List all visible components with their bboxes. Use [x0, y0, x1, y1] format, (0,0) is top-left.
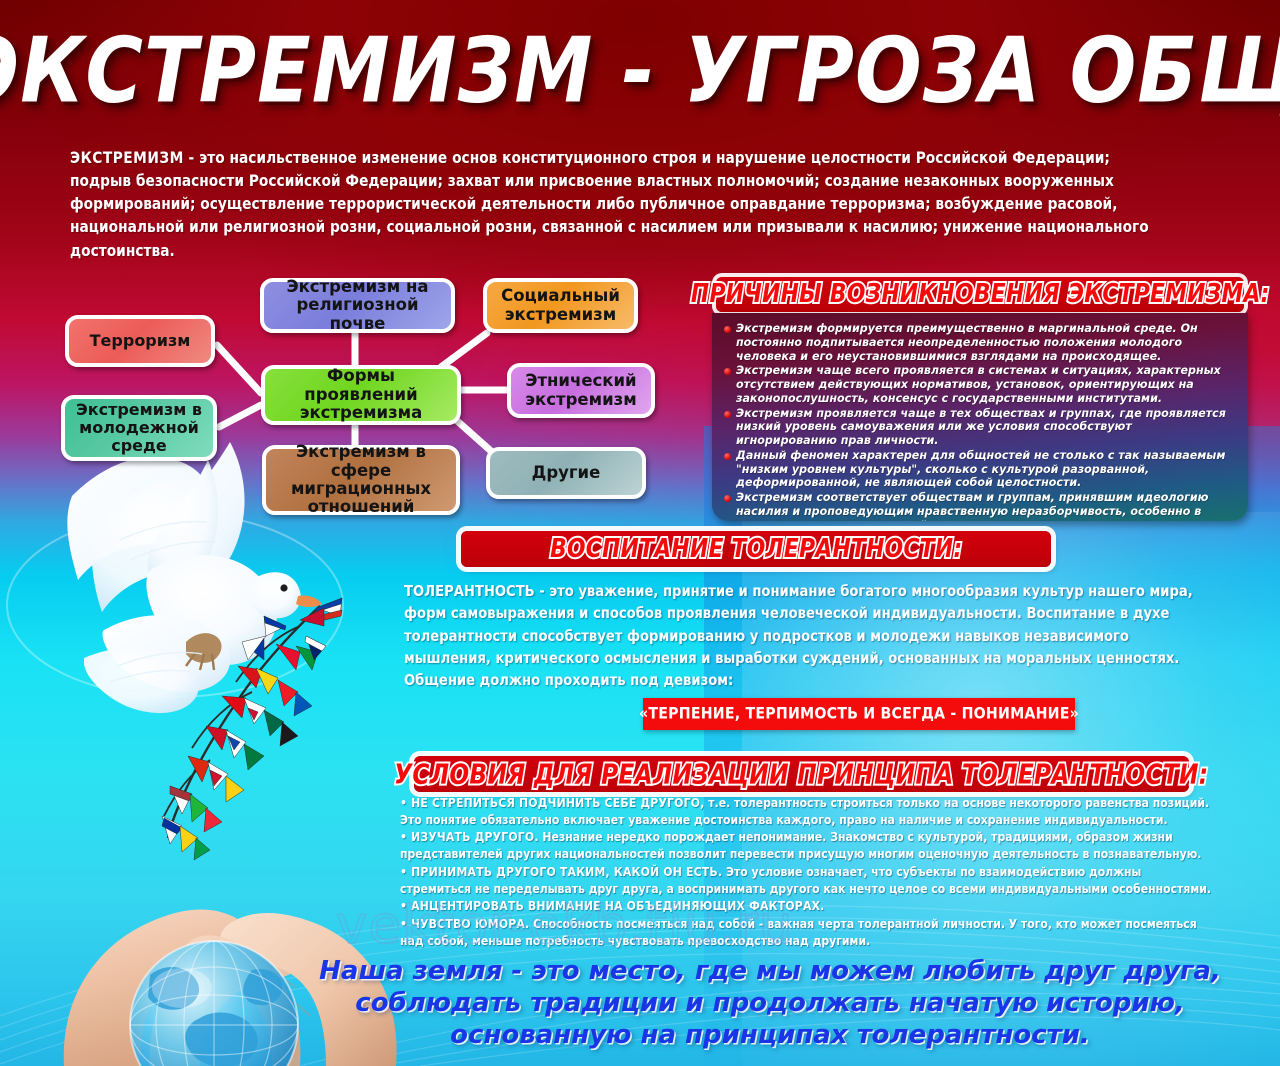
causes-list-item: Экстремизм формируется преимущественно в… [722, 322, 1236, 363]
intro-lead-word: ЭКСТРЕМИЗМ [70, 148, 184, 167]
causes-list: Экстремизм формируется преимущественно в… [722, 322, 1236, 521]
conditions-item-caption: • ИЗУЧАТЬ ДРУГОГО. [400, 829, 539, 844]
conditions-list-item: • НЕ СТРЕПИТЬСЯ ПОДЧИНИТЬ СЕБЕ ДРУГОГО, … [400, 795, 1214, 828]
causes-header-text: ПРИЧИНЫ ВОЗНИКНОВЕНИЯ ЭКСТРЕМИЗМА: [691, 280, 1270, 310]
conditions-item-caption: • АНЦЕНТИРОВАТЬ ВНИМАНИЕ НА ОБЪЕДИНЯЮЩИХ… [400, 898, 824, 913]
conditions-list-item: • ЧУВСТВО ЮМОРА. Способность посмеяться … [400, 916, 1214, 949]
diagram-node-social[interactable]: Социальный экстремизм [483, 278, 638, 333]
tolerance-paragraph: ТОЛЕРАНТНОСТЬ - это уважение, принятие и… [404, 580, 1202, 692]
poster-root: ЭКСТРЕМИЗМ - УГРОЗА ОБЩЕСТВУ! ЭКСТРЕМИЗМ… [0, 0, 1280, 1066]
intro-paragraph: ЭКСТРЕМИЗМ - это насильственное изменени… [70, 146, 1170, 262]
conditions-item-caption: • НЕ СТРЕПИТЬСЯ ПОДЧИНИТЬ СЕБЕ ДРУГОГО, [400, 795, 704, 810]
tolerance-header-text: ВОСПИТАНИЕ ТОЛЕРАНТНОСТИ: [550, 534, 962, 564]
motto-banner: «ТЕРПЕНИЕ, ТЕРПИМОСТЬ И ВСЕГДА - ПОНИМАН… [643, 698, 1075, 730]
conditions-list: • НЕ СТРЕПИТЬСЯ ПОДЧИНИТЬ СЕБЕ ДРУГОГО, … [400, 795, 1214, 951]
poster-title-wrap: ЭКСТРЕМИЗМ - УГРОЗА ОБЩЕСТВУ! [0, 36, 1280, 106]
conditions-list-item: • АНЦЕНТИРОВАТЬ ВНИМАНИЕ НА ОБЪЕДИНЯЮЩИХ… [400, 898, 1214, 915]
diagram-node-ethnic[interactable]: Этнический экстремизм [507, 363, 655, 418]
conditions-item-caption: • ЧУВСТВО ЮМОРА. [400, 916, 529, 931]
diagram-node-youth[interactable]: Экстремизм в молодежной среде [61, 395, 217, 461]
causes-header-band: ПРИЧИНЫ ВОЗНИКНОВЕНИЯ ЭКСТРЕМИЗМА: [716, 277, 1244, 312]
conditions-header-band: УСЛОВИЯ ДЛЯ РЕАЛИЗАЦИИ ПРИНЦИПА ТОЛЕРАНТ… [414, 756, 1189, 792]
conditions-header-text: УСЛОВИЯ ДЛЯ РЕАЛИЗАЦИИ ПРИНЦИПА ТОЛЕРАНТ… [394, 757, 1208, 790]
tolerance-header-band: ВОСПИТАНИЕ ТОЛЕРАНТНОСТИ: [461, 531, 1051, 567]
diagram-node-center[interactable]: Формы проявлений экстремизма [261, 365, 461, 425]
diagram-node-other[interactable]: Другие [486, 447, 646, 499]
intro-text: - это насильственное изменение основ кон… [70, 148, 1149, 260]
tolerance-lead-word: ТОЛЕРАНТНОСТЬ [404, 582, 535, 600]
causes-panel: Экстремизм формируется преимущественно в… [712, 313, 1248, 521]
causes-list-item: Данный феномен характерен для общностей … [722, 449, 1236, 490]
diagram-node-terrorism[interactable]: Терроризм [65, 315, 215, 367]
diagram-node-religious[interactable]: Экстремизм на религиозной почве [260, 278, 455, 333]
causes-list-item: Экстремизм чаще всего проявляется в сист… [722, 364, 1236, 405]
conditions-list-item: • ПРИНИМАТЬ ДРУГОГО ТАКИМ, КАКОЙ ОН ЕСТЬ… [400, 864, 1214, 897]
conditions-list-item: • ИЗУЧАТЬ ДРУГОГО. Незнание нередко поро… [400, 829, 1214, 862]
causes-list-item: Экстремизм соответствует обществам и гру… [722, 491, 1236, 521]
conditions-item-caption: • ПРИНИМАТЬ ДРУГОГО ТАКИМ, КАКОЙ ОН ЕСТЬ… [400, 864, 722, 879]
diagram-node-migration[interactable]: Экстремизм в сфере миграционных отношени… [262, 445, 460, 515]
closing-statement: Наша земля - это место, где мы можем люб… [300, 955, 1240, 1052]
causes-list-item: Экстремизм проявляется чаще в тех общест… [722, 407, 1236, 448]
forms-of-extremism-diagram: Терроризм Экстремизм в молодежной среде … [55, 275, 705, 520]
motto-text: «ТЕРПЕНИЕ, ТЕРПИМОСТЬ И ВСЕГДА - ПОНИМАН… [639, 705, 1079, 723]
poster-title: ЭКСТРЕМИЗМ - УГРОЗА ОБЩЕСТВУ! [0, 28, 1280, 114]
